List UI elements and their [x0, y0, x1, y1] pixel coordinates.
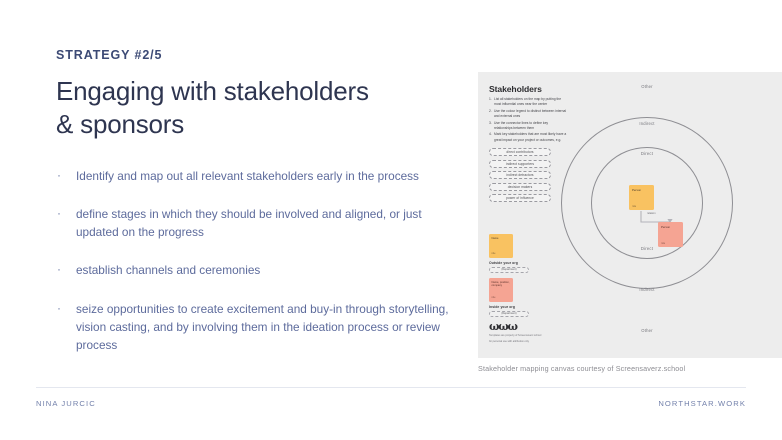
- canvas-brand-mark: ωωω Templates are property of Screensave…: [489, 321, 541, 344]
- node-title: Person: [632, 188, 641, 192]
- bullet-dot-icon: ·: [56, 205, 70, 222]
- ring-label-other-top: Other: [641, 84, 652, 89]
- slide-canvas: STRATEGY #2/5 Engaging with stakeholders…: [0, 0, 782, 440]
- canvas-title: Stakeholders: [489, 84, 542, 94]
- legend-pill[interactable]: indirect supporters: [489, 160, 551, 168]
- ring-label-indirect-top: Indirect: [639, 121, 654, 126]
- sample-note-title: Name: [492, 237, 499, 240]
- list-item: · establish channels and ceremonies: [56, 261, 456, 279]
- fineprint-line-1: Templates are property of Screensaverz.s…: [489, 334, 541, 338]
- instruction-text: Use the colour legend to distinct betwee…: [494, 109, 567, 119]
- ring-label-direct-bottom: Direct: [641, 246, 653, 251]
- headline-line-2: & sponsors: [56, 108, 456, 141]
- list-item: · Identify and map out all relevant stak…: [56, 167, 456, 185]
- node-role: role: [632, 205, 636, 208]
- canvas-legend: direct contributors indirect supporters …: [489, 148, 551, 206]
- stakeholder-node-primary[interactable]: Person role: [629, 185, 654, 210]
- bullet-text: define stages in which they should be in…: [70, 205, 456, 242]
- instruction-text: Mark key stakeholders that are most like…: [494, 132, 567, 142]
- sample-note-role: role: [492, 252, 496, 256]
- stakeholder-canvas-image: Stakeholders 1. List all stakeholders on…: [478, 72, 782, 358]
- node-title: Person: [661, 225, 670, 229]
- sample-sticky-group-outside: Name role Outside your org (Department): [489, 234, 529, 273]
- bullet-dot-icon: ·: [56, 261, 70, 278]
- sample-sticky-note[interactable]: Name, position, company role: [489, 278, 513, 302]
- sample-sticky-group-inside: Name, position, company role Inside your…: [489, 278, 529, 317]
- sample-note-role: role: [492, 296, 496, 300]
- footer-divider: [36, 387, 746, 388]
- fineprint-line-2: for personal use with attribution only: [489, 340, 541, 344]
- instruction-item: 3. Use the connector lines to define key…: [489, 121, 567, 131]
- instruction-text: List all stakeholders on the map by putt…: [494, 97, 567, 107]
- slide-eyebrow: STRATEGY #2/5: [56, 48, 456, 62]
- bullet-list: · Identify and map out all relevant stak…: [56, 167, 456, 355]
- node-role: role: [661, 242, 665, 245]
- instruction-item: 1. List all stakeholders on the map by p…: [489, 97, 567, 107]
- sample-label: Outside your org: [489, 261, 529, 265]
- stakeholder-node-secondary[interactable]: Person role: [658, 222, 683, 247]
- bullet-text: establish channels and ceremonies: [70, 261, 456, 279]
- canvas-surface: Stakeholders 1. List all stakeholders on…: [478, 72, 782, 358]
- ring-label-direct-top: Direct: [641, 151, 653, 156]
- canvas-instructions: 1. List all stakeholders on the map by p…: [489, 97, 567, 144]
- legend-pill[interactable]: power of influence: [489, 194, 551, 202]
- bullet-text: Identify and map out all relevant stakeh…: [70, 167, 456, 185]
- legend-pill[interactable]: decision makers: [489, 183, 551, 191]
- sample-label: Inside your org: [489, 305, 529, 309]
- instruction-text: Use the connector lines to define key re…: [494, 121, 567, 131]
- brand-glyph-icon: ωωω: [489, 321, 541, 332]
- sample-note-title: Name, position, company: [492, 281, 510, 288]
- bullet-dot-icon: ·: [56, 300, 70, 317]
- headline-line-1: Engaging with stakeholders: [56, 75, 456, 108]
- sample-sublabel: (Department): [489, 267, 529, 273]
- ring-label-indirect-bottom: Indirect: [639, 287, 654, 292]
- slide-text-column: STRATEGY #2/5 Engaging with stakeholders…: [56, 48, 456, 374]
- figure-caption: Stakeholder mapping canvas courtesy of S…: [478, 364, 685, 373]
- page-title: Engaging with stakeholders & sponsors: [56, 75, 456, 141]
- footer-author: NINA JURCIC: [36, 399, 96, 408]
- list-item: · seize opportunities to create exciteme…: [56, 300, 456, 355]
- list-item: · define stages in which they should be …: [56, 205, 456, 242]
- instruction-item: 2. Use the colour legend to distinct bet…: [489, 109, 567, 119]
- instruction-item: 4. Mark key stakeholders that are most l…: [489, 132, 567, 142]
- sample-sublabel: (Department): [489, 311, 529, 317]
- ring-label-other-bottom: Other: [641, 328, 652, 333]
- sample-sticky-note[interactable]: Name role: [489, 234, 513, 258]
- footer-brand: NORTHSTAR.WORK: [658, 399, 746, 408]
- legend-pill[interactable]: direct contributors: [489, 148, 551, 156]
- legend-pill[interactable]: indirect detractors: [489, 171, 551, 179]
- bullet-dot-icon: ·: [56, 167, 70, 184]
- bullet-text: seize opportunities to create excitement…: [70, 300, 456, 355]
- connector-label: relation: [646, 212, 657, 215]
